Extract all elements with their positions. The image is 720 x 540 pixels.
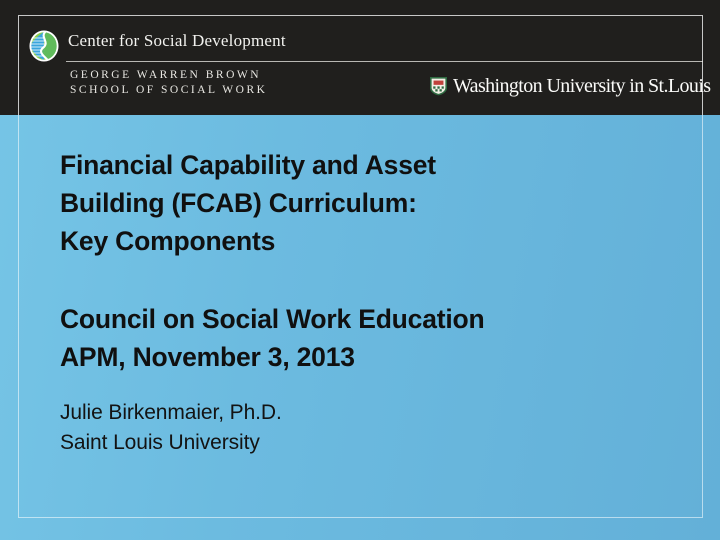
title-line: Financial Capability and Asset <box>60 146 660 184</box>
author-name: Julie Birkenmaier, Ph.D. <box>60 398 560 428</box>
slide-event-subtitle: Council on Social Work Education APM, No… <box>60 300 660 376</box>
author-affiliation: Saint Louis University <box>60 428 560 458</box>
washu-crest-icon <box>429 76 448 96</box>
washu-wordmark: Washington University in St.Louis <box>453 76 710 96</box>
presentation-slide: Center for Social Development GEORGE WAR… <box>0 0 720 540</box>
slide-title: Financial Capability and Asset Building … <box>60 146 660 260</box>
title-line: Building (FCAB) Curriculum: <box>60 184 660 222</box>
csd-organization-name: Center for Social Development <box>68 31 286 51</box>
title-line: Key Components <box>60 222 660 260</box>
slide-author-block: Julie Birkenmaier, Ph.D. Saint Louis Uni… <box>60 398 560 458</box>
event-line: APM, November 3, 2013 <box>60 338 660 376</box>
csd-school-line-1: GEORGE WARREN BROWN <box>70 69 261 81</box>
csd-divider-rule <box>66 61 703 62</box>
csd-school-line-2: SCHOOL OF SOCIAL WORK <box>70 84 267 96</box>
event-line: Council on Social Work Education <box>60 300 660 338</box>
csd-globe-icon <box>28 30 60 62</box>
washu-logo-lockup: Washington University in St.Louis <box>429 73 710 99</box>
